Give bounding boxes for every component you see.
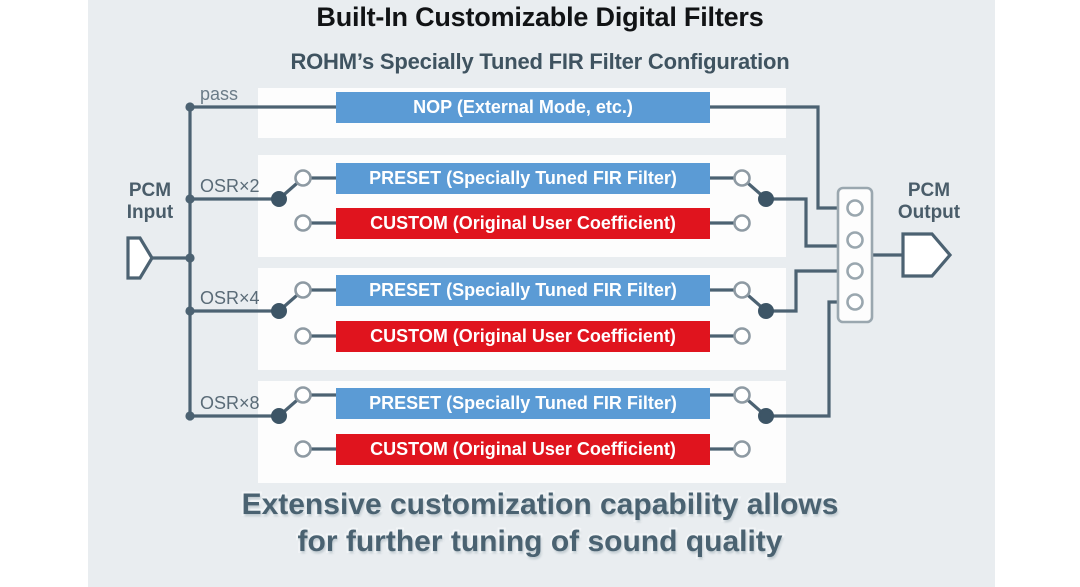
bus-junction-input [185, 253, 194, 262]
switch-terminal-osr4-preset-in[interactable] [296, 283, 311, 298]
filter-label-osr4-custom: CUSTOM (Original User Coefficient) [370, 326, 676, 346]
branch-label-osr2: OSR×2 [200, 176, 260, 196]
switch-pivot-osr2-out[interactable] [759, 192, 773, 206]
switch-terminal-osr8-preset-in[interactable] [296, 388, 311, 403]
branch-label-osr4: OSR×4 [200, 288, 260, 308]
switch-pivot-osr4-in[interactable] [272, 304, 286, 318]
pcm-input-arrow [128, 238, 152, 278]
switch-pivot-osr2-in[interactable] [272, 192, 286, 206]
switch-terminal-osr8-preset-out[interactable] [735, 388, 750, 403]
filter-label-osr4-preset: PRESET (Specially Tuned FIR Filter) [369, 280, 677, 300]
filter-label-osr2-preset: PRESET (Specially Tuned FIR Filter) [369, 168, 677, 188]
switch-terminal-osr2-custom-out[interactable] [735, 216, 750, 231]
footer-line-1: Extensive customization capability allow… [0, 486, 1080, 523]
switch-terminal-osr4-custom-out[interactable] [735, 329, 750, 344]
output-selector-port-2[interactable] [848, 233, 863, 248]
switch-terminal-osr2-preset-in[interactable] [296, 171, 311, 186]
footer-line-2: for further tuning of sound quality [0, 523, 1080, 560]
switch-terminal-osr8-custom-in[interactable] [296, 442, 311, 457]
switch-pivot-osr8-out[interactable] [759, 409, 773, 423]
switch-pivot-osr4-out[interactable] [759, 304, 773, 318]
switch-terminal-osr8-custom-out[interactable] [735, 442, 750, 457]
output-selector-port-1[interactable] [848, 201, 863, 216]
switch-terminal-osr4-custom-in[interactable] [296, 329, 311, 344]
bus-junction-pass [185, 102, 194, 111]
switch-terminal-osr4-preset-out[interactable] [735, 283, 750, 298]
bus-junction-osr8 [185, 411, 194, 420]
footer-callout: Extensive customization capability allow… [0, 486, 1080, 560]
filter-label-osr8-preset: PRESET (Specially Tuned FIR Filter) [369, 393, 677, 413]
output-selector-port-4[interactable] [848, 295, 863, 310]
pcm-output-arrow [903, 234, 950, 276]
pcm-output-label-line2: Output [898, 202, 961, 223]
switch-pivot-osr8-in[interactable] [272, 409, 286, 423]
output-selector-port-3[interactable] [848, 264, 863, 279]
branch-label-osr8: OSR×8 [200, 393, 260, 413]
pcm-input-label-line1: PCM [129, 180, 171, 201]
branch-label-pass: pass [200, 84, 238, 104]
pcm-output-label-line1: PCM [908, 180, 950, 201]
bus-junction-osr4 [185, 306, 194, 315]
diagram-root: Built-In Customizable Digital Filters RO… [0, 0, 1080, 587]
filter-label-nop: NOP (External Mode, etc.) [413, 97, 633, 117]
switch-terminal-osr2-custom-in[interactable] [296, 216, 311, 231]
filter-label-osr2-custom: CUSTOM (Original User Coefficient) [370, 213, 676, 233]
bus-junction-osr2 [185, 194, 194, 203]
filter-label-osr8-custom: CUSTOM (Original User Coefficient) [370, 439, 676, 459]
switch-terminal-osr2-preset-out[interactable] [735, 171, 750, 186]
pcm-input-label-line2: Input [127, 202, 174, 223]
